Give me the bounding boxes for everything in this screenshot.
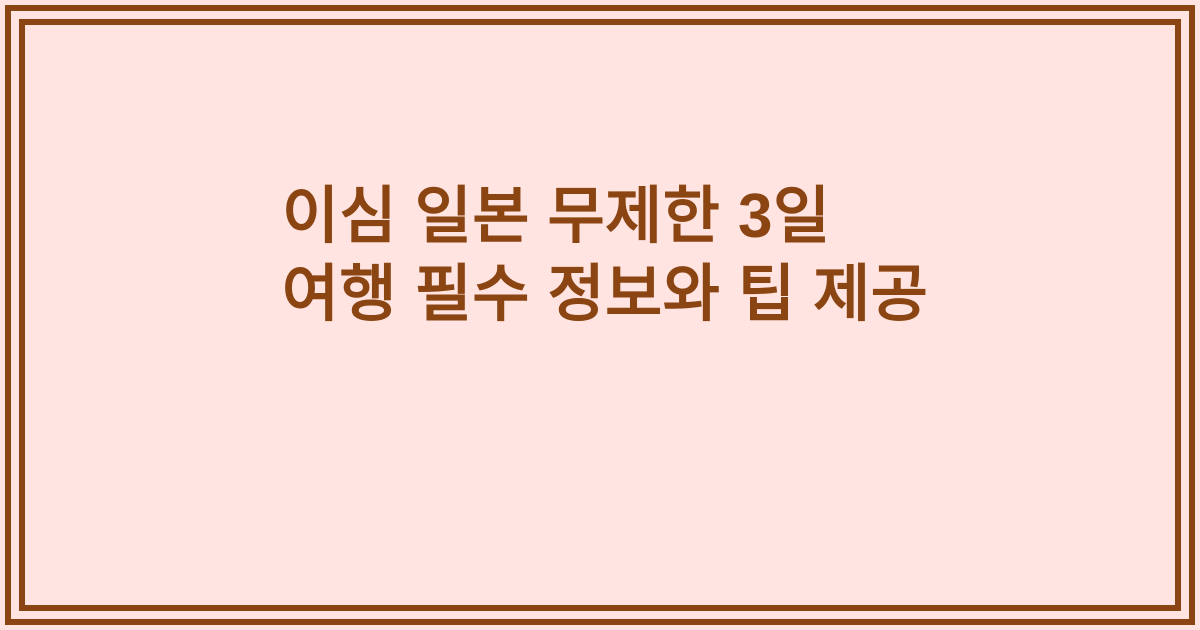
page-title: 이심 일본 무제한 3일 여행 필수 정보와 팁 제공 [282,178,942,334]
og-image-card: 이심 일본 무제한 3일 여행 필수 정보와 팁 제공 [0,0,1200,630]
title-block: 이심 일본 무제한 3일 여행 필수 정보와 팁 제공 [282,178,942,448]
